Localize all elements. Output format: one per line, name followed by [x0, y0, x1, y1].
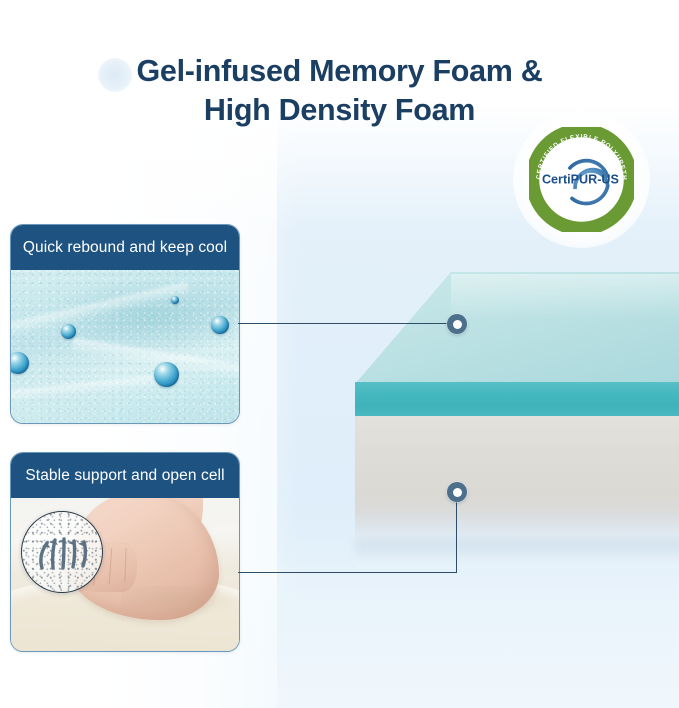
open-cell-magnifier-inset [21, 511, 103, 593]
foam-compression-shadow [121, 586, 239, 618]
feature-card-quick-rebound[interactable]: Quick rebound and keep cool [10, 224, 240, 424]
foam-layer-gel-front-face [355, 382, 679, 416]
foam-top-sheen [451, 274, 679, 320]
airflow-arrows-icon [22, 512, 102, 592]
certipur-badge: CONTAINS CERTIFIED FLEXIBLE POLYURETHANE… [529, 127, 634, 232]
gel-bead [211, 316, 229, 334]
feature-card-stable-support[interactable]: Stable support and open cell [10, 452, 240, 652]
feature-card-photo-1 [11, 270, 239, 423]
feature-card-header-2: Stable support and open cell [11, 453, 239, 498]
callout-line-gel [238, 323, 450, 324]
callout-line-base-vertical [456, 492, 457, 573]
feature-card-label-2: Stable support and open cell [25, 467, 224, 485]
callout-dot-gel-layer[interactable] [447, 314, 467, 334]
foam-block-shadow [355, 540, 679, 562]
callout-line-base-horizontal [238, 572, 457, 573]
foam-block-illustration [355, 272, 679, 562]
gel-bead [171, 296, 179, 304]
feature-card-header-1: Quick rebound and keep cool [11, 225, 239, 270]
title-line-1: Gel-infused Memory Foam & [0, 52, 679, 91]
gel-bead [154, 362, 179, 387]
badge-center-text: CertiPUR-US [542, 173, 619, 187]
gel-bead [61, 324, 76, 339]
callout-dot-base-layer[interactable] [447, 482, 467, 502]
certipur-seal-icon: CONTAINS CERTIFIED FLEXIBLE POLYURETHANE… [529, 127, 634, 232]
product-infographic: Gel-infused Memory Foam & High Density F… [0, 0, 679, 708]
feature-card-photo-2 [11, 498, 239, 651]
feature-card-label-1: Quick rebound and keep cool [23, 239, 227, 257]
